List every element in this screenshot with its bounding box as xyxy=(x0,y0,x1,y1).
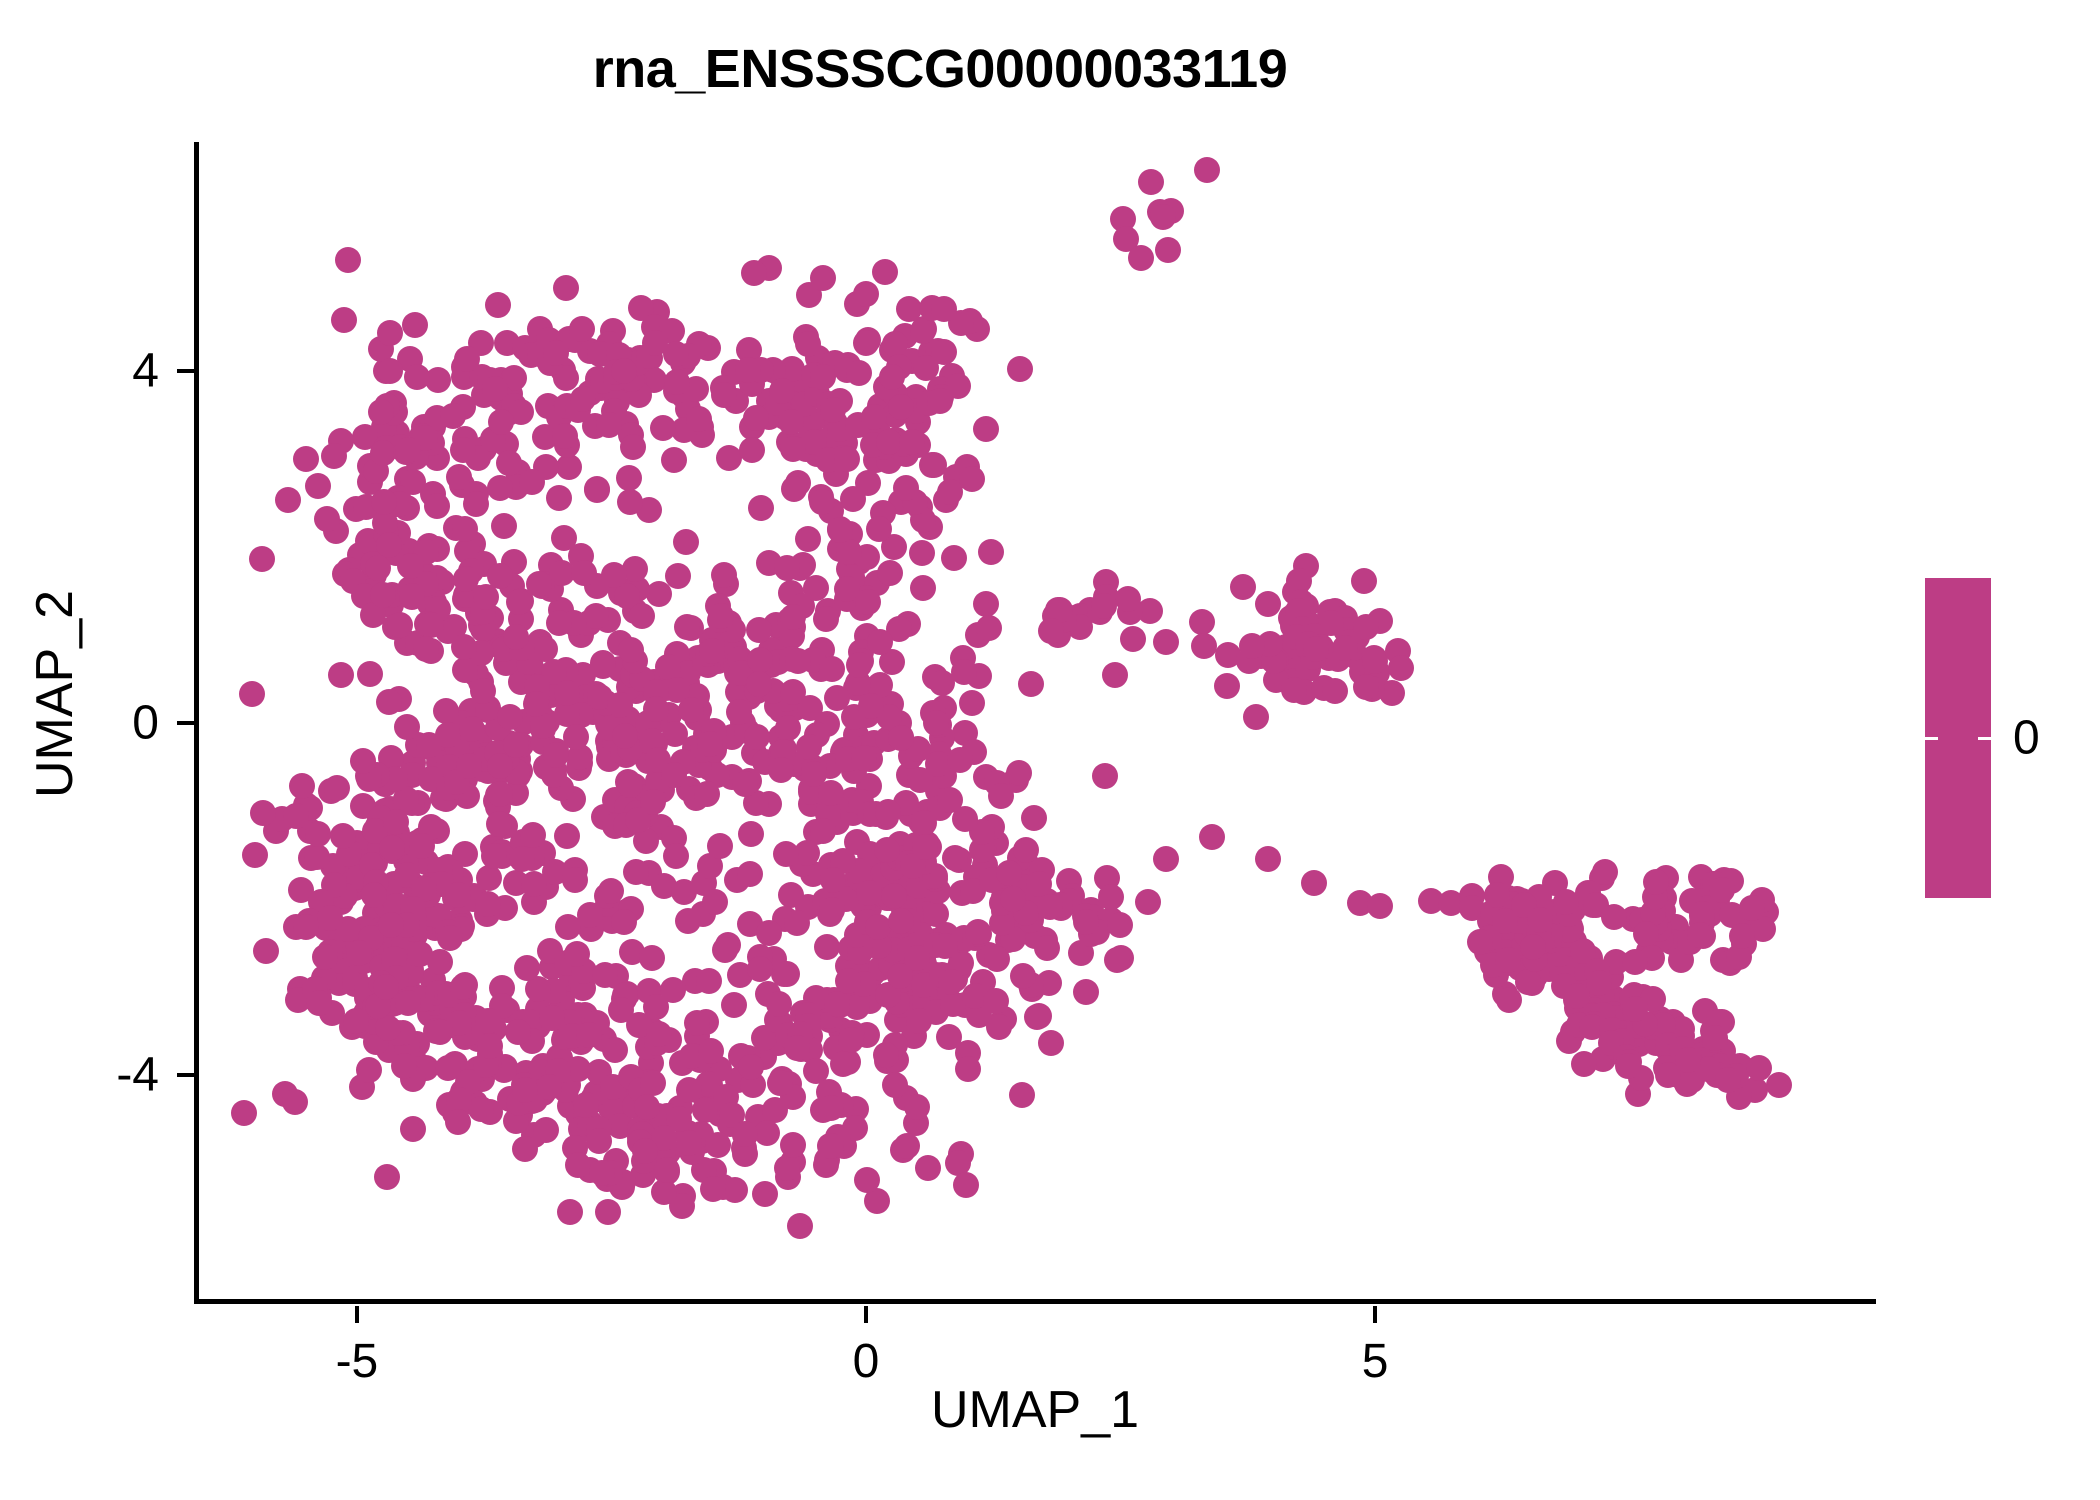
scatter-point xyxy=(774,555,800,581)
scatter-point xyxy=(1601,904,1627,930)
scatter-point xyxy=(894,1133,920,1159)
scatter-point xyxy=(640,789,666,815)
scatter-point xyxy=(1367,893,1393,919)
scatter-point xyxy=(519,469,545,495)
scatter-point xyxy=(809,489,835,515)
scatter-point xyxy=(293,914,319,940)
scatter-point xyxy=(305,473,331,499)
scatter-point xyxy=(775,715,801,741)
scatter-point xyxy=(596,412,622,438)
scatter-point xyxy=(1038,1030,1064,1056)
scatter-point xyxy=(684,1010,710,1036)
y-tick-mark xyxy=(177,721,194,725)
scatter-point xyxy=(314,506,340,532)
scatter-point xyxy=(664,369,690,395)
scatter-point xyxy=(904,1094,930,1120)
scatter-point xyxy=(365,555,391,581)
scatter-point xyxy=(400,1116,426,1142)
scatter-point xyxy=(1715,1067,1741,1093)
scatter-point xyxy=(533,1117,559,1143)
scatter-point xyxy=(378,912,404,938)
scatter-point xyxy=(893,475,919,501)
scatter-point xyxy=(543,742,569,768)
scatter-point xyxy=(739,437,765,463)
scatter-point xyxy=(700,1176,726,1202)
scatter-point xyxy=(611,358,637,384)
scatter-point xyxy=(357,661,383,687)
scatter-point xyxy=(1107,912,1133,938)
scatter-point xyxy=(856,880,882,906)
scatter-point xyxy=(283,803,309,829)
scatter-point xyxy=(686,406,712,432)
scatter-point xyxy=(907,767,933,793)
scatter-point xyxy=(711,382,737,408)
scatter-point xyxy=(953,1172,979,1198)
scatter-point xyxy=(780,1132,806,1158)
scatter-point xyxy=(767,1070,793,1096)
scatter-point xyxy=(361,882,387,908)
scatter-point xyxy=(705,1132,731,1158)
scatter-point xyxy=(451,634,477,660)
scatter-point xyxy=(486,811,512,837)
scatter-point xyxy=(910,575,936,601)
scatter-point xyxy=(1709,877,1735,903)
scatter-point xyxy=(1571,1051,1597,1077)
scatter-point xyxy=(590,653,616,679)
scatter-point xyxy=(803,575,829,601)
scatter-point xyxy=(781,476,807,502)
scatter-point xyxy=(450,974,476,1000)
scatter-point xyxy=(608,997,634,1023)
scatter-point xyxy=(818,1095,844,1121)
scatter-point xyxy=(481,843,507,869)
scatter-point xyxy=(921,452,947,478)
scatter-point xyxy=(663,843,689,869)
scatter-point xyxy=(539,1005,565,1031)
scatter-point xyxy=(253,938,279,964)
scatter-point xyxy=(477,1033,503,1059)
scatter-point xyxy=(1104,947,1130,973)
scatter-point xyxy=(726,699,752,725)
scatter-point xyxy=(394,714,420,740)
scatter-point xyxy=(554,680,580,706)
scatter-point xyxy=(577,902,603,928)
scatter-point xyxy=(520,822,546,848)
scatter-point xyxy=(881,883,907,909)
scatter-point xyxy=(595,1199,621,1225)
scatter-point xyxy=(328,662,354,688)
scatter-point xyxy=(780,604,806,630)
scatter-point xyxy=(835,968,861,994)
scatter-point xyxy=(629,603,655,629)
scatter-point xyxy=(875,799,901,825)
scatter-point xyxy=(634,1094,660,1120)
scatter-point xyxy=(712,937,738,963)
scatter-point xyxy=(1092,763,1118,789)
scatter-point xyxy=(231,1100,257,1126)
scatter-point xyxy=(242,842,268,868)
scatter-point xyxy=(1073,909,1099,935)
scatter-point xyxy=(660,977,686,1003)
scatter-point xyxy=(813,606,839,632)
scatter-point xyxy=(551,525,577,551)
scatter-point xyxy=(377,358,403,384)
scatter-point xyxy=(866,516,892,542)
scatter-point xyxy=(769,378,795,404)
plot-panel xyxy=(194,142,1874,1302)
scatter-point xyxy=(452,516,478,542)
scatter-point xyxy=(1010,963,1036,989)
scatter-point xyxy=(676,1130,702,1156)
scatter-point xyxy=(586,1128,612,1154)
scatter-point xyxy=(331,307,357,333)
colorbar-tick-right xyxy=(1978,737,1991,740)
scatter-point xyxy=(836,539,862,565)
scatter-point xyxy=(512,1136,538,1162)
scatter-point xyxy=(1687,922,1713,948)
scatter-point xyxy=(1301,870,1327,896)
scatter-point xyxy=(350,748,376,774)
scatter-point xyxy=(855,470,881,496)
scatter-point xyxy=(304,844,330,870)
scatter-point xyxy=(395,990,421,1016)
scatter-point xyxy=(743,405,769,431)
scatter-point xyxy=(824,991,850,1017)
scatter-point xyxy=(932,933,958,959)
x-tick-mark xyxy=(355,1306,359,1323)
scatter-point xyxy=(536,1074,562,1100)
scatter-point xyxy=(795,526,821,552)
scatter-point xyxy=(373,974,399,1000)
scatter-point xyxy=(756,920,782,946)
y-tick-label: -4 xyxy=(29,1048,159,1103)
scatter-point xyxy=(1102,662,1128,688)
scatter-point xyxy=(707,833,733,859)
scatter-point xyxy=(1009,1082,1035,1108)
scatter-point xyxy=(317,905,343,931)
scatter-point xyxy=(620,434,646,460)
scatter-point xyxy=(746,671,772,697)
scatter-point xyxy=(673,529,699,555)
scatter-point xyxy=(616,465,642,491)
scatter-point xyxy=(910,318,936,344)
scatter-point xyxy=(904,945,930,971)
scatter-point xyxy=(931,296,957,322)
scatter-point xyxy=(1492,908,1518,934)
scatter-point xyxy=(1037,894,1063,920)
scatter-point xyxy=(965,919,991,945)
scatter-point xyxy=(646,581,672,607)
scatter-point xyxy=(617,489,643,515)
scatter-point xyxy=(427,1019,453,1045)
scatter-point xyxy=(732,1121,758,1147)
scatter-point xyxy=(873,1042,899,1068)
scatter-point xyxy=(398,553,424,579)
scatter-point xyxy=(752,1181,778,1207)
scatter-point xyxy=(475,1008,501,1034)
scatter-point xyxy=(250,800,276,826)
scatter-point xyxy=(437,925,463,951)
scatter-point xyxy=(941,545,967,571)
scatter-point xyxy=(888,725,914,751)
scatter-point xyxy=(1467,929,1493,955)
scatter-point xyxy=(646,1021,672,1047)
scatter-point xyxy=(1115,586,1141,612)
scatter-point xyxy=(721,992,747,1018)
scatter-point xyxy=(650,415,676,441)
scatter-point xyxy=(395,437,421,463)
scatter-point xyxy=(1021,805,1047,831)
scatter-point xyxy=(543,340,569,366)
legend-colorbar: 0 xyxy=(1925,578,2100,908)
scatter-point xyxy=(454,346,480,372)
scatter-point xyxy=(1586,970,1612,996)
scatter-point xyxy=(1013,837,1039,863)
scatter-point xyxy=(697,731,723,757)
scatter-point xyxy=(1120,626,1146,652)
scatter-point xyxy=(601,562,627,588)
scatter-point xyxy=(1633,921,1659,947)
scatter-point xyxy=(830,1051,856,1077)
scatter-point xyxy=(827,517,853,543)
scatter-point xyxy=(1553,889,1579,915)
scatter-point xyxy=(370,582,396,608)
scatter-point xyxy=(735,357,761,383)
scatter-point xyxy=(509,846,535,872)
scatter-point xyxy=(1353,614,1379,640)
scatter-point xyxy=(1098,884,1124,910)
scatter-point xyxy=(639,945,665,971)
scatter-point xyxy=(938,969,964,995)
scatter-point xyxy=(698,1038,724,1064)
scatter-point xyxy=(711,562,737,588)
scatter-point xyxy=(1214,673,1240,699)
scatter-point xyxy=(611,909,637,935)
scatter-point xyxy=(818,1133,844,1159)
scatter-point xyxy=(855,589,881,615)
scatter-point xyxy=(485,292,511,318)
scatter-point xyxy=(1702,1025,1728,1051)
scatter-point xyxy=(440,403,466,429)
scatter-point xyxy=(1128,245,1154,271)
scatter-point xyxy=(239,681,265,707)
scatter-point xyxy=(1746,1055,1772,1081)
scatter-point xyxy=(433,698,459,724)
scatter-point xyxy=(694,781,720,807)
scatter-point xyxy=(374,1164,400,1190)
scatter-point xyxy=(973,416,999,442)
scatter-point xyxy=(1592,859,1618,885)
scatter-point xyxy=(1135,889,1161,915)
scatter-point xyxy=(810,818,836,844)
scatter-point xyxy=(418,612,444,638)
x-axis-label: UMAP_1 xyxy=(194,1380,1876,1440)
scatter-point xyxy=(1073,979,1099,1005)
scatter-point xyxy=(819,656,845,682)
scatter-point xyxy=(814,934,840,960)
scatter-point xyxy=(1255,591,1281,617)
scatter-point xyxy=(503,624,529,650)
scatter-point xyxy=(654,1157,680,1183)
scatter-point xyxy=(909,540,935,566)
scatter-point xyxy=(413,636,439,662)
scatter-point xyxy=(882,1072,908,1098)
scatter-point xyxy=(942,845,968,871)
scatter-point xyxy=(1622,949,1648,975)
scatter-point xyxy=(623,859,649,885)
scatter-point xyxy=(1655,1062,1681,1088)
scatter-point xyxy=(546,610,572,636)
scatter-point xyxy=(512,1077,538,1103)
scatter-point xyxy=(674,614,700,640)
scatter-point xyxy=(376,689,402,715)
scatter-point xyxy=(959,466,985,492)
scatter-point xyxy=(1739,895,1765,921)
scatter-point xyxy=(741,260,767,286)
scatter-point xyxy=(834,446,860,472)
scatter-point xyxy=(409,833,435,859)
scatter-point xyxy=(1615,1053,1641,1079)
scatter-point xyxy=(1255,846,1281,872)
scatter-point xyxy=(699,638,725,664)
scatter-point xyxy=(1729,923,1755,949)
scatter-point xyxy=(747,647,773,673)
scatter-point xyxy=(853,281,879,307)
scatter-point xyxy=(838,1027,864,1053)
scatter-point xyxy=(640,1070,666,1096)
scatter-point xyxy=(947,747,973,773)
scatter-point xyxy=(1230,574,1256,600)
scatter-point xyxy=(774,1155,800,1181)
scatter-point xyxy=(383,809,409,835)
scatter-point xyxy=(810,265,836,291)
scatter-point xyxy=(1091,593,1117,619)
scatter-point xyxy=(335,247,361,273)
scatter-point xyxy=(1281,677,1307,703)
scatter-point xyxy=(780,679,806,705)
scatter-point xyxy=(306,990,332,1016)
scatter-point xyxy=(399,583,425,609)
scatter-point xyxy=(766,991,792,1017)
scatter-point xyxy=(368,399,394,425)
scatter-point xyxy=(787,1213,813,1239)
page-title: rna_ENSSSCG00000033119 xyxy=(0,38,1880,100)
scatter-point xyxy=(1332,635,1358,661)
scatter-point xyxy=(1388,655,1414,681)
scatter-point xyxy=(912,834,938,860)
scatter-point xyxy=(452,657,478,683)
scatter-point xyxy=(576,1022,602,1048)
scatter-point xyxy=(1520,934,1546,960)
scatter-point xyxy=(846,360,872,386)
scatter-point xyxy=(1189,609,1215,635)
scatter-point xyxy=(748,495,774,521)
scatter-point xyxy=(435,1055,461,1081)
scatter-point xyxy=(435,722,461,748)
scatter-point xyxy=(617,772,643,798)
scatter-point xyxy=(858,693,884,719)
scatter-point xyxy=(732,771,758,797)
scatter-point xyxy=(747,956,773,982)
scatter-point xyxy=(506,589,532,615)
scatter-point xyxy=(275,487,301,513)
scatter-point xyxy=(482,376,508,402)
scatter-point xyxy=(978,539,1004,565)
scatter-point xyxy=(642,330,668,356)
scatter-point xyxy=(592,962,618,988)
scatter-point xyxy=(1138,169,1164,195)
scatter-point xyxy=(951,659,977,685)
scatter-point xyxy=(778,409,804,435)
scatter-point xyxy=(607,692,633,718)
scatter-point xyxy=(1495,947,1521,973)
scatter-point xyxy=(819,897,845,923)
scatter-point xyxy=(1006,760,1032,786)
x-tick-mark xyxy=(864,1306,868,1323)
scatter-point xyxy=(678,697,704,723)
scatter-point xyxy=(976,615,1002,641)
scatter-point xyxy=(1150,204,1176,230)
scatter-point xyxy=(450,437,476,463)
scatter-point xyxy=(1622,996,1648,1022)
scatter-point xyxy=(445,1109,471,1135)
scatter-point xyxy=(491,513,517,539)
scatter-point xyxy=(1007,356,1033,382)
scatter-point xyxy=(387,612,413,638)
scatter-point xyxy=(931,339,957,365)
scatter-point xyxy=(402,312,428,338)
scatter-point xyxy=(456,753,482,779)
scatter-point xyxy=(927,388,953,414)
scatter-point xyxy=(1766,1072,1792,1098)
scatter-point xyxy=(487,781,513,807)
scatter-point xyxy=(584,477,610,503)
scatter-point xyxy=(874,837,900,863)
scatter-point xyxy=(475,891,501,917)
scatter-point xyxy=(557,1199,583,1225)
scatter-point xyxy=(780,436,806,462)
y-tick-mark xyxy=(177,369,194,373)
scatter-point xyxy=(632,1138,658,1164)
scatter-point xyxy=(570,386,596,412)
scatter-point xyxy=(1239,633,1265,659)
scatter-point xyxy=(497,704,523,730)
scatter-point xyxy=(1484,882,1510,908)
scatter-point xyxy=(888,908,914,934)
scatter-point xyxy=(391,1053,417,1079)
scatter-point xyxy=(523,691,549,717)
colorbar-tick-label: 0 xyxy=(2013,711,2040,766)
scatter-point xyxy=(820,867,846,893)
scatter-point xyxy=(1000,886,1026,912)
scatter-point xyxy=(618,637,644,663)
scatter-point xyxy=(983,988,1009,1014)
scatter-point xyxy=(796,734,822,760)
scatter-point xyxy=(1303,636,1329,662)
scatter-point xyxy=(573,1092,599,1118)
scatter-point xyxy=(774,961,800,987)
scatter-point xyxy=(1018,671,1044,697)
scatter-point xyxy=(996,860,1022,886)
scatter-point xyxy=(744,724,770,750)
scatter-point xyxy=(801,761,827,787)
scatter-point xyxy=(661,447,687,473)
scatter-point xyxy=(671,879,697,905)
scatter-point xyxy=(589,1160,615,1186)
scatter-point xyxy=(379,835,405,861)
scatter-point xyxy=(784,1035,810,1061)
scatter-point xyxy=(906,1008,932,1034)
